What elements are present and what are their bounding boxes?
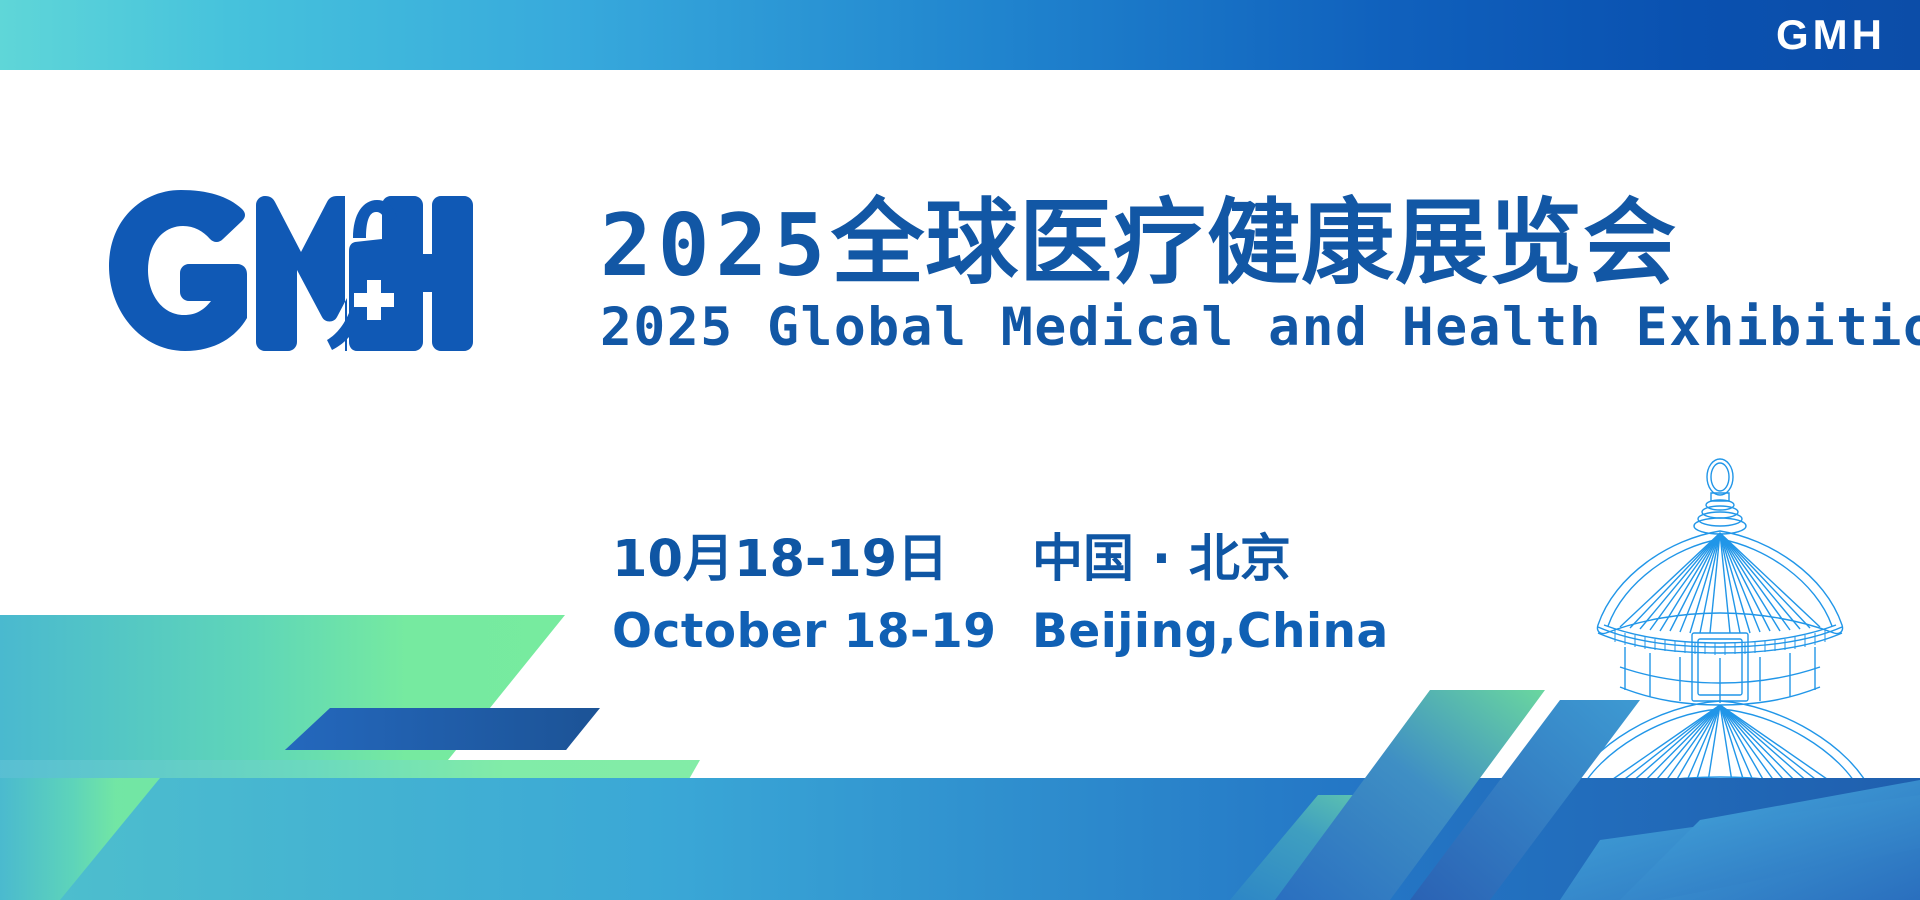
bottom-decorative-shapes: [0, 580, 1920, 900]
exhibition-banner: GMH 2025全球医疗健康: [0, 0, 1920, 900]
title-year: 2025: [600, 196, 831, 296]
title-english: 2025 Global Medical and Health Exhibitio…: [600, 297, 1830, 358]
title-chinese: 2025全球医疗健康展览会: [600, 196, 1830, 291]
title-block: 2025全球医疗健康展览会 2025 Global Medical and He…: [600, 196, 1830, 358]
topbar-brand-gmh: GMH: [1776, 14, 1886, 56]
top-gradient-bar: GMH: [0, 0, 1920, 70]
title-chinese-words: 全球医疗健康展览会: [831, 189, 1677, 297]
gmh-logo-mark: [105, 188, 475, 353]
